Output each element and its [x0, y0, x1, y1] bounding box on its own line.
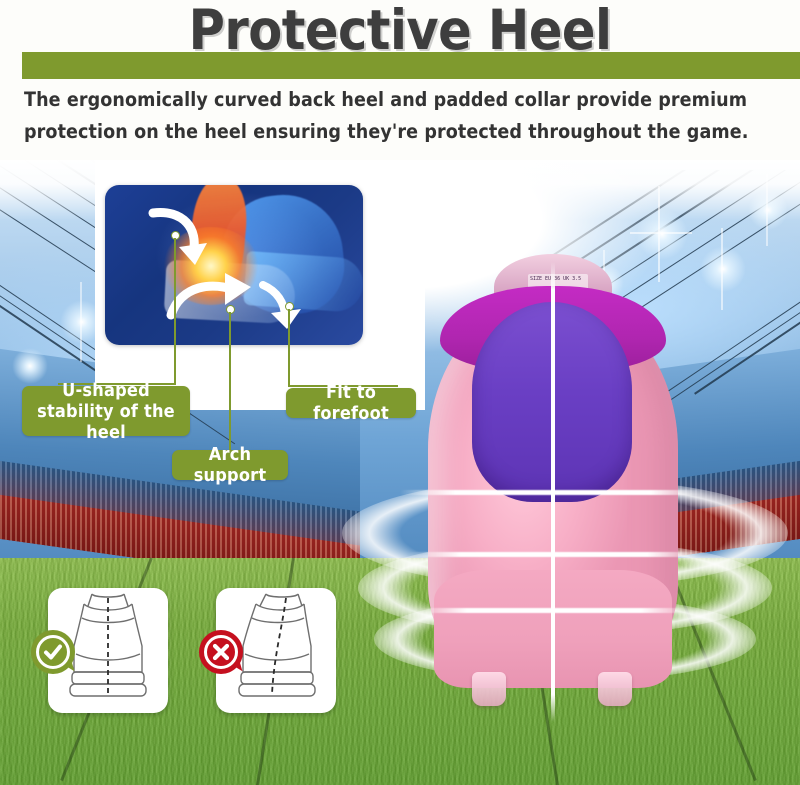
page-title: Protective Heel [0, 0, 800, 62]
callout-fit-to-forefoot[interactable]: Fit to forefoot [286, 388, 416, 418]
product-feature-banner: Protective Heel The ergonomically curved… [0, 0, 800, 785]
motion-arrow-lower [163, 271, 259, 323]
cross-icon [211, 642, 231, 662]
callout-u-shaped-line1: U-shaped [22, 380, 190, 401]
page-subtitle: The ergonomically curved back heel and p… [24, 84, 780, 148]
callout-arch-support[interactable]: Arch support [172, 450, 288, 480]
callout-u-shaped[interactable]: U-shaped stability of the heel [22, 386, 190, 436]
leader-line-forefoot-vertical [288, 309, 290, 387]
ankle-anatomy-diagram [105, 185, 363, 345]
check-icon [42, 641, 64, 663]
leader-line-u-shaped-vertical [174, 238, 176, 384]
callout-marker-arch-support [226, 305, 235, 314]
product-shoe: SIZE EU 36 UK 3.5 [398, 240, 728, 740]
shoe-stud [598, 672, 632, 706]
callout-marker-forefoot [285, 302, 294, 311]
status-badge-incorrect [199, 630, 243, 674]
status-badge-correct [31, 630, 75, 674]
callout-u-shaped-line2: stability of the heel [22, 401, 190, 443]
leader-line-arch-support [229, 312, 231, 452]
shoe-stud [472, 672, 506, 706]
center-alignment-line [551, 262, 555, 722]
callout-marker-u-shaped [171, 231, 180, 240]
